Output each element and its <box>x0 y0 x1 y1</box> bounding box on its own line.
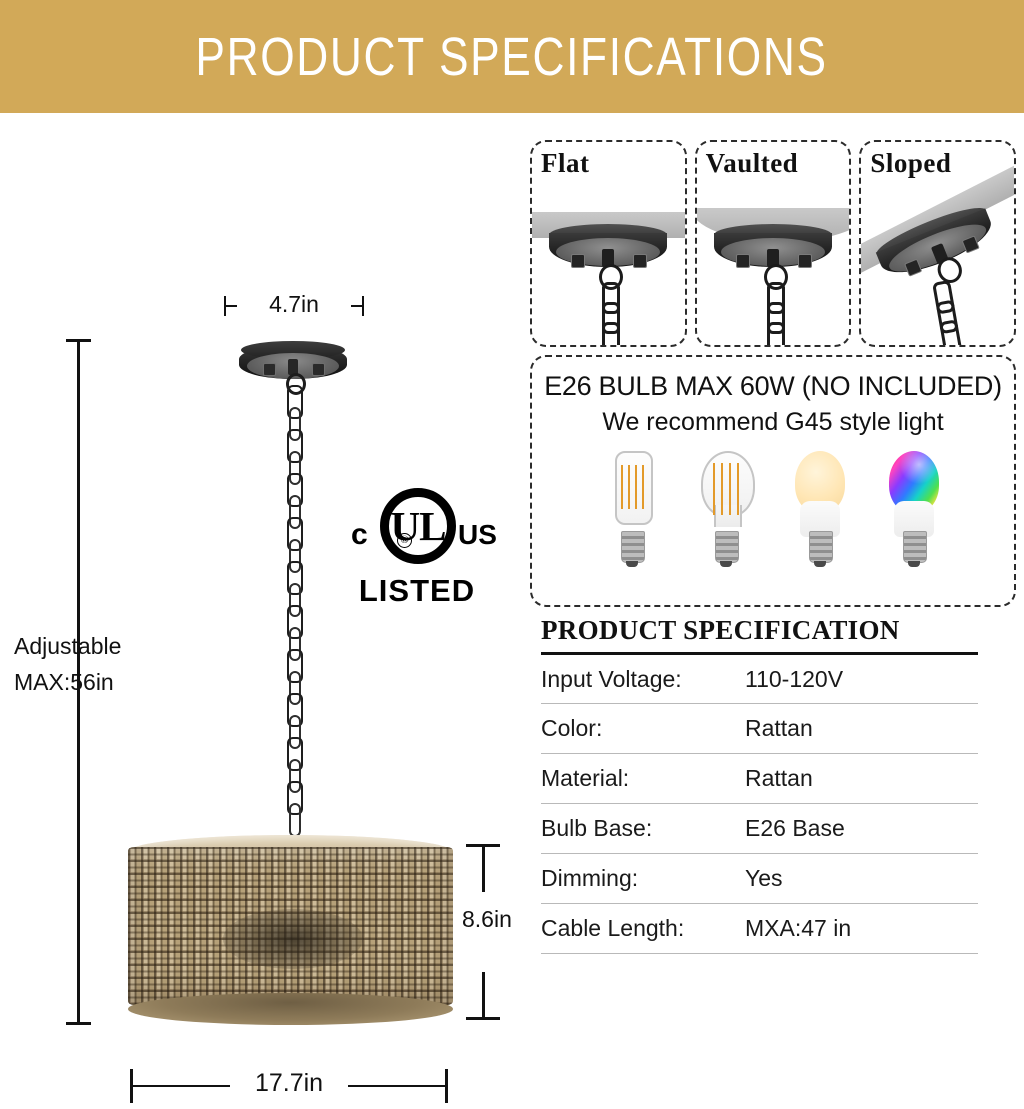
spec-label: Cable Length: <box>541 904 741 954</box>
e26-screw-base <box>621 531 645 563</box>
rgb-color-bulb <box>881 449 947 567</box>
spec-label: Material: <box>541 754 741 804</box>
mount-chain <box>766 282 780 346</box>
table-row: Material:Rattan <box>541 754 978 804</box>
mount-chain <box>931 281 956 346</box>
spec-value: 110-120V <box>741 654 978 704</box>
spec-label: Dimming: <box>541 854 741 904</box>
shade-interior-shadow <box>223 909 363 969</box>
spec-value: E26 Base <box>741 804 978 854</box>
product-diagram-panel: 4.7in Adjustable MAX:56in 8.6in <box>0 113 520 1006</box>
spec-value: MXA:47 in <box>741 904 978 954</box>
dimension-cap-bottom <box>466 1017 500 1020</box>
mount-type-row: FlatVaultedSloped <box>530 140 1016 347</box>
ul-listed-text: LISTED <box>327 573 507 609</box>
canopy-screw-left <box>263 363 276 376</box>
dimension-rule-right <box>348 1085 446 1087</box>
mount-card-sloped: Sloped <box>859 140 1016 347</box>
canopy-screw-left <box>571 254 585 268</box>
mount-chain <box>601 282 615 346</box>
shade-bottom-rim <box>128 993 453 1025</box>
spec-label: Bulb Base: <box>541 804 741 854</box>
table-row: Color:Rattan <box>541 704 978 754</box>
registered-trademark-icon: ® <box>397 533 412 548</box>
filament <box>628 465 630 509</box>
spec-label: Color: <box>541 704 741 754</box>
mount-card-flat: Flat <box>530 140 687 347</box>
spec-value: Rattan <box>741 704 978 754</box>
mount-card-label: Vaulted <box>706 148 799 179</box>
warm-white-bulb <box>787 449 853 567</box>
mount-card-vaulted: Vaulted <box>695 140 852 347</box>
filament <box>635 465 637 509</box>
filament <box>729 463 731 515</box>
table-row: Input Voltage:110-120V <box>541 654 978 704</box>
filament <box>713 463 715 515</box>
ul-us-mark: US <box>458 519 497 551</box>
canopy-width-label: 4.7in <box>218 291 370 318</box>
table-row: Bulb Base:E26 Base <box>541 804 978 854</box>
mount-card-label: Sloped <box>870 148 951 179</box>
chain-link <box>939 319 962 347</box>
specifications-column: FlatVaultedSloped E26 BULB MAX 60W (NO I… <box>530 140 1016 954</box>
filament <box>642 465 644 509</box>
shade-width-label: 17.7in <box>130 1069 448 1098</box>
hanging-chain <box>285 385 301 831</box>
dimension-tick-right <box>362 296 364 316</box>
dimension-stem-top <box>482 844 485 892</box>
chain-link <box>767 322 785 347</box>
spec-label: Input Voltage: <box>541 654 741 704</box>
canopy-screw-right <box>798 254 812 268</box>
specification-table: Input Voltage:110-120VColor:RattanMateri… <box>541 652 978 954</box>
tubular-filament-bulb <box>599 449 665 567</box>
ul-c-mark: c <box>351 518 368 552</box>
filament <box>621 465 623 509</box>
adjustable-height-label: Adjustable MAX:56in <box>14 628 121 700</box>
mount-card-label: Flat <box>541 148 590 179</box>
base-contact-tip <box>626 561 638 567</box>
bulb-panel-title: E26 BULB MAX 60W (NO INCLUDED) <box>532 371 1014 402</box>
canopy-screw-left <box>736 254 750 268</box>
ceiling-canopy <box>239 341 347 387</box>
page-title: PRODUCT SPECIFICATIONS <box>196 26 828 88</box>
ul-letters: UL <box>380 488 456 564</box>
canopy-width-dimension: 4.7in <box>218 291 370 323</box>
shade-height-label: 8.6in <box>462 906 512 933</box>
e26-screw-base <box>809 531 833 563</box>
bulb-icon-row <box>532 449 1014 567</box>
specification-title: PRODUCT SPECIFICATION <box>541 615 1016 646</box>
table-row: Cable Length:MXA:47 in <box>541 904 978 954</box>
a19-filament-bulb <box>693 449 759 567</box>
dimension-cap-right <box>445 1069 448 1103</box>
page-header-banner: PRODUCT SPECIFICATIONS <box>0 0 1024 113</box>
canopy-screw-right <box>312 363 325 376</box>
chain-link <box>602 322 620 347</box>
canopy-mount <box>714 224 832 282</box>
filament <box>721 463 723 515</box>
e26-screw-base <box>903 531 927 563</box>
filament <box>737 463 739 515</box>
shade-height-dimension: 8.6in <box>466 844 526 1020</box>
base-contact-tip <box>720 561 732 567</box>
adjustable-text: Adjustable <box>14 628 121 664</box>
e26-screw-base <box>715 531 739 563</box>
canopy-mount <box>549 224 667 282</box>
dimension-stem-bottom <box>482 972 485 1020</box>
adjustable-max-text: MAX:56in <box>14 664 121 700</box>
dimension-cap-bottom <box>66 1022 91 1025</box>
spec-value: Yes <box>741 854 978 904</box>
chain-link <box>289 803 301 837</box>
bulb-panel-subtitle: We recommend G45 style light <box>532 408 1014 437</box>
ul-listed-certification-icon: c UL ® US LISTED <box>327 488 507 618</box>
table-row: Dimming:Yes <box>541 854 978 904</box>
specification-section: PRODUCT SPECIFICATION Input Voltage:110-… <box>530 615 1016 954</box>
canopy-screw-right <box>633 254 647 268</box>
bulb-recommendation-panel: E26 BULB MAX 60W (NO INCLUDED) We recomm… <box>530 355 1016 607</box>
spec-value: Rattan <box>741 754 978 804</box>
base-contact-tip <box>908 561 920 567</box>
base-contact-tip <box>814 561 826 567</box>
shade-width-dimension: 17.7in <box>130 1063 448 1109</box>
rattan-drum-shade <box>128 835 453 1025</box>
